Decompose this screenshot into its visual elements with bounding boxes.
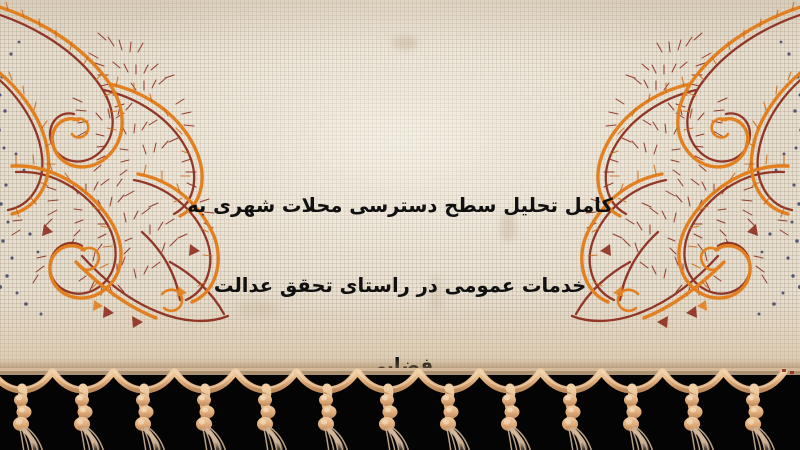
- knotted-fringe-graphic: [0, 368, 800, 450]
- title-line-2: خدمات عمومی در راستای تحقق عدالت: [160, 266, 640, 306]
- title-slide: کامل تحلیل سطح دسترسی محلات شهری به خدما…: [0, 0, 800, 450]
- tassel-fringe-band: [0, 368, 800, 450]
- cloth-stain: [392, 36, 418, 50]
- title-line-1: کامل تحلیل سطح دسترسی محلات شهری به: [160, 186, 640, 226]
